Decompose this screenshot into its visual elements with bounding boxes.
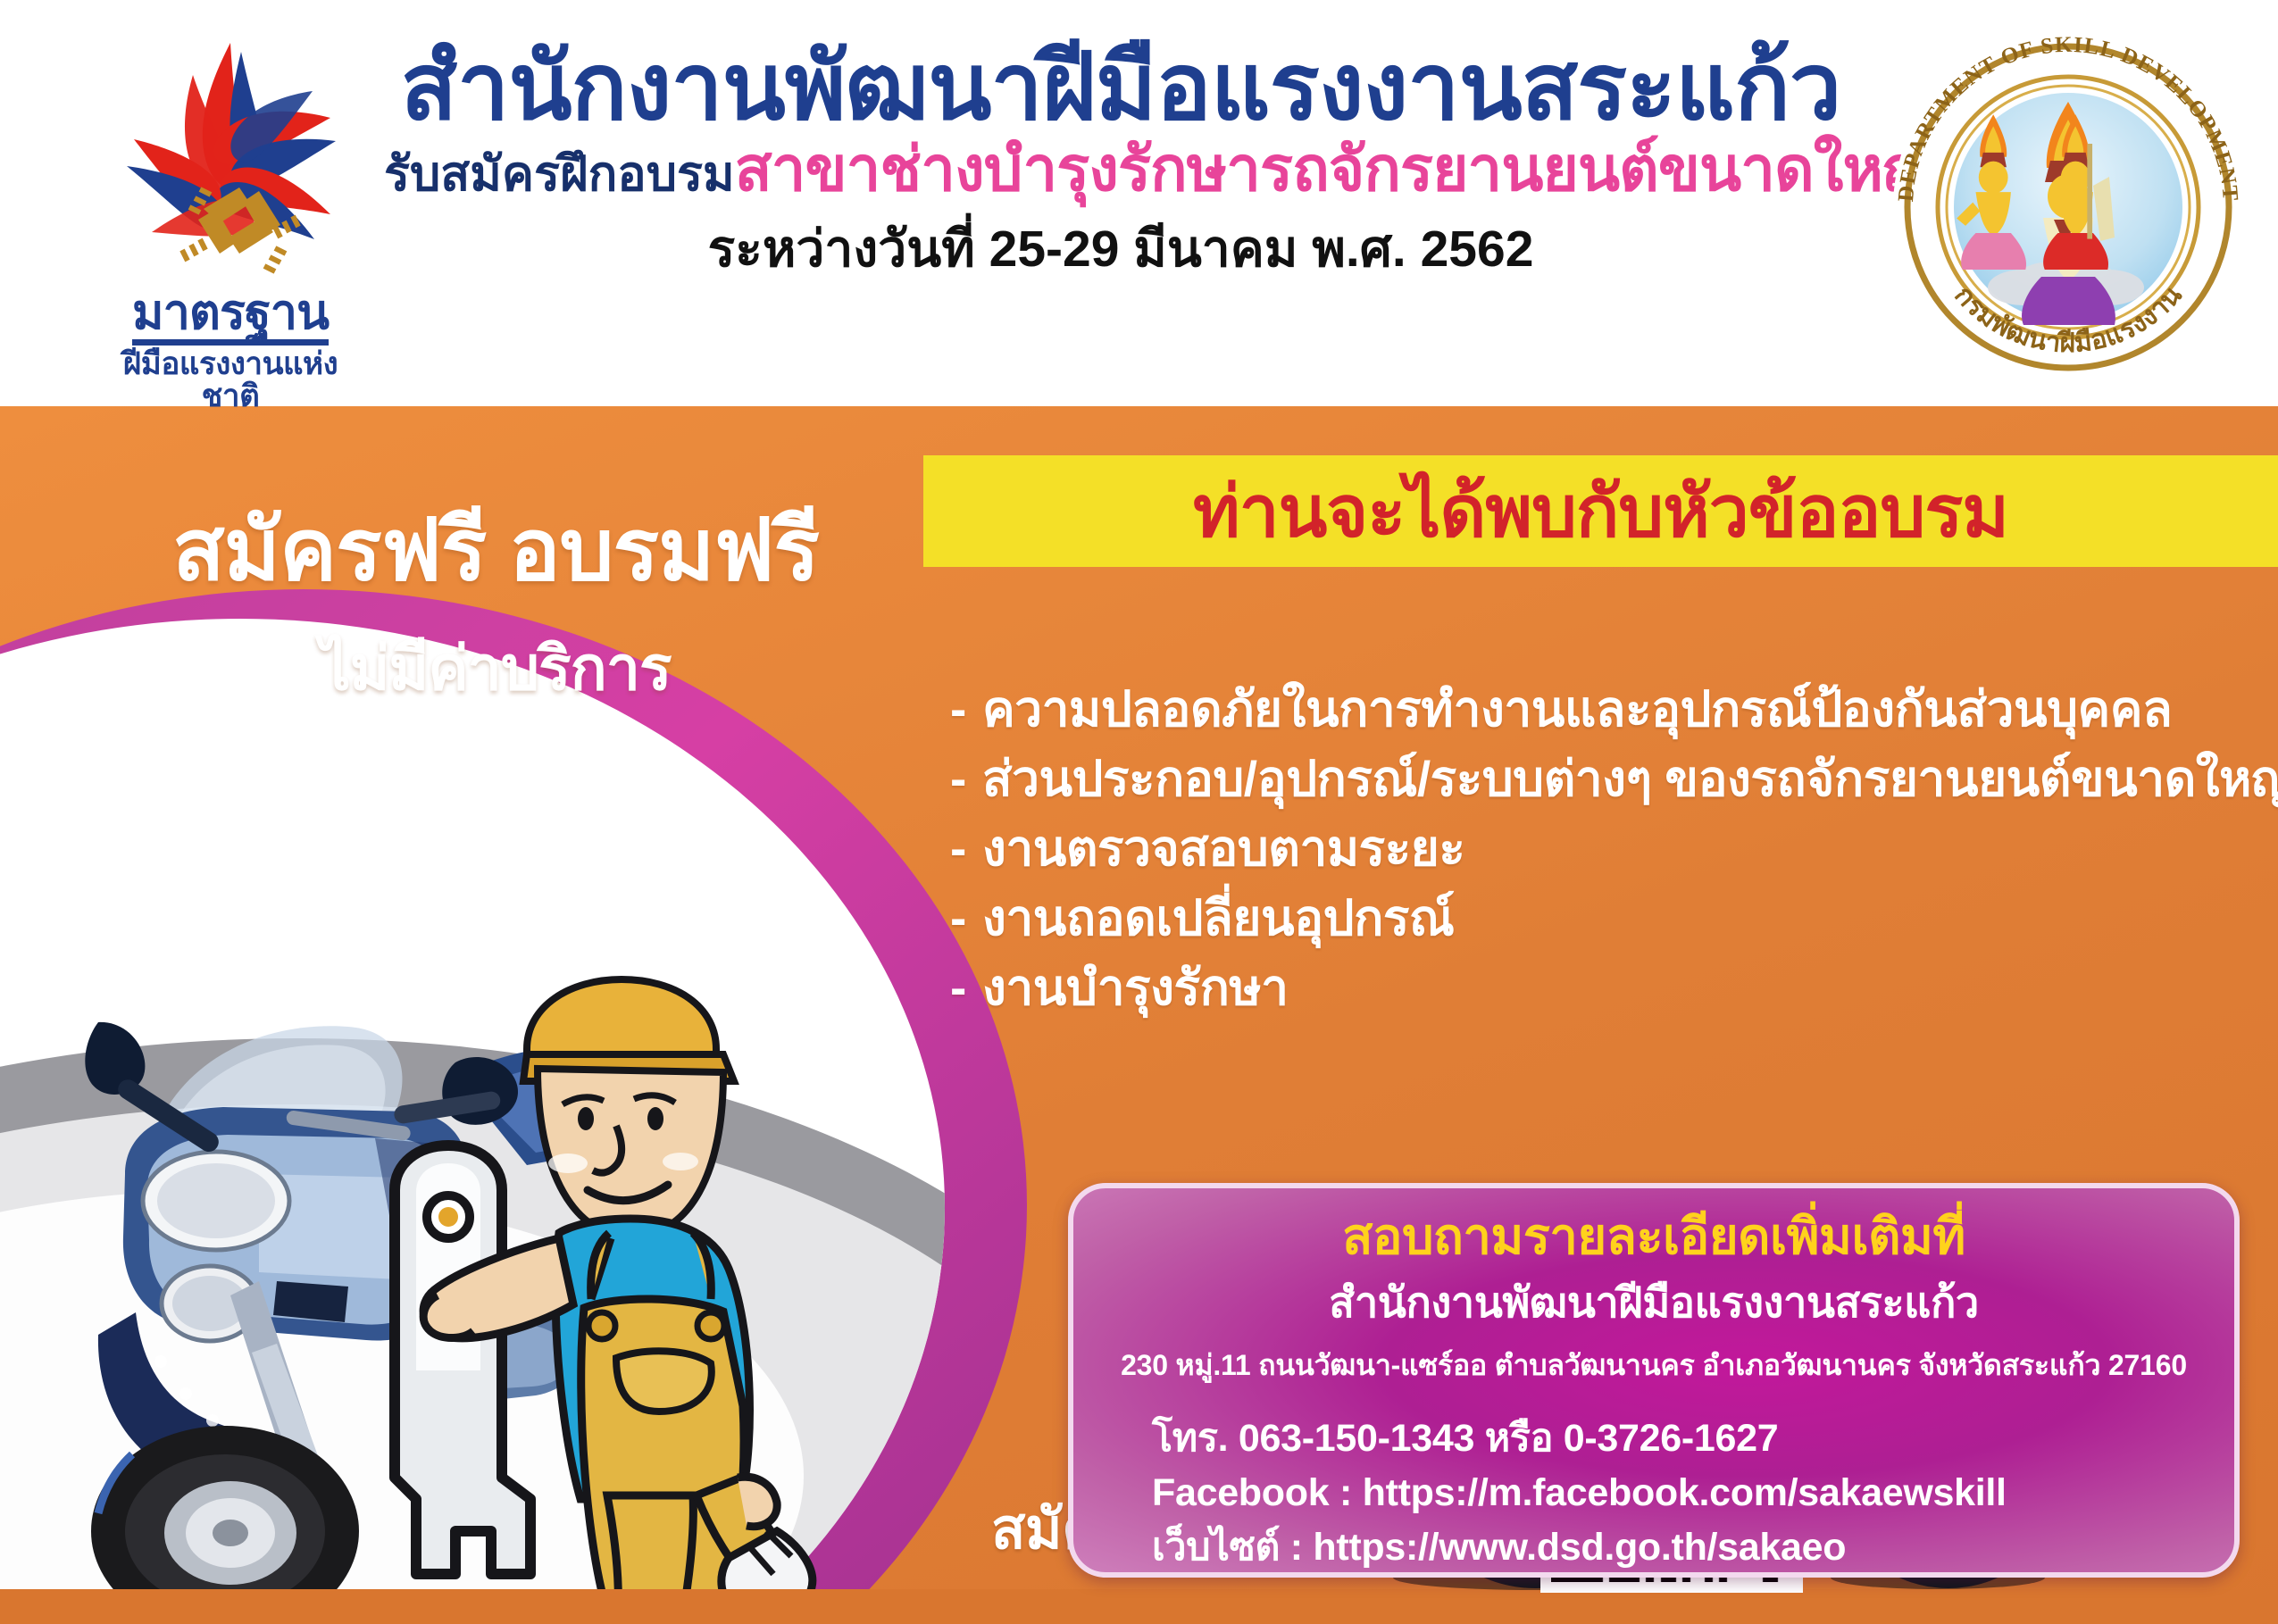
list-item: -งานบำรุงรักษา bbox=[950, 953, 2227, 1022]
contact-office: สำนักงานพัฒนาฝีมือแรงงานสระแก้ว bbox=[1113, 1269, 2195, 1336]
contact-website[interactable]: เว็บไซต์ : https://www.dsd.go.th/sakaeo bbox=[1152, 1520, 2195, 1575]
topic-text: ส่วนประกอบ/อุปกรณ์/ระบบต่างๆ ของรถจักรยา… bbox=[982, 751, 2278, 806]
contact-phone: โทร. 063-150-1343 หรือ 0-3726-1627 bbox=[1152, 1412, 2195, 1466]
bullet-mark: - bbox=[950, 883, 982, 953]
topics-banner-title: ท่านจะได้พบกับหัวข้ออบรม bbox=[923, 454, 2278, 568]
page-title: สำนักงานพัฒนาฝีมือแรงงานสระแก้ว bbox=[384, 36, 1857, 139]
subtitle-line: รับสมัครฝึกอบรมสาขาช่างบำรุงรักษารถจักรย… bbox=[384, 134, 1857, 204]
bullet-mark: - bbox=[950, 953, 982, 1022]
contact-address: 230 หมู่.11 ถนนวัฒนา-แซร์ออ ตำบลวัฒนานคร… bbox=[1113, 1343, 2195, 1388]
topics-list: -ความปลอดภัยในการทำงานและอุปกรณ์ป้องกันส… bbox=[950, 674, 2227, 1022]
free-line-1: สมัครฟรี อบรมฟรี bbox=[71, 482, 920, 618]
poster-body: สมัครฟรี อบรมฟรี ไม่มีค่าบริการ bbox=[0, 406, 2278, 1624]
contact-title: สอบถามรายละเอียดเพิ่มเติมที่ bbox=[1113, 1208, 2195, 1265]
flame-swirl-icon bbox=[96, 25, 364, 293]
bullet-mark: - bbox=[950, 674, 982, 744]
topic-text: งานตรวจสอบตามระยะ bbox=[982, 820, 1464, 876]
topic-text: ความปลอดภัยในการทำงานและอุปกรณ์ป้องกันส่… bbox=[982, 681, 2172, 737]
contact-facebook[interactable]: Facebook : https://m.facebook.com/sakaew… bbox=[1152, 1466, 2195, 1520]
list-item: -งานถอดเปลี่ยนอุปกรณ์ bbox=[950, 883, 2227, 953]
national-logo-line-1: มาตรฐาน bbox=[132, 288, 329, 346]
contact-card: สอบถามรายละเอียดเพิ่มเติมที่ สำนักงานพัฒ… bbox=[1068, 1183, 2240, 1578]
bullet-mark: - bbox=[950, 744, 982, 813]
subtitle-course: สาขาช่างบำรุงรักษารถจักรยานยนต์ขนาดใหญ่ bbox=[735, 135, 1934, 204]
bottom-strip bbox=[0, 1589, 2278, 1624]
department-of-skill-development-seal: DEPARTMENT OF SKILL DEVELOPMENT กรมพัฒนา… bbox=[1881, 20, 2256, 395]
topic-text: งานบำรุงรักษา bbox=[982, 960, 1289, 1015]
list-item: -ความปลอดภัยในการทำงานและอุปกรณ์ป้องกันส… bbox=[950, 674, 2227, 744]
date-line: ระหว่างวันที่ 25-29 มีนาคม พ.ศ. 2562 bbox=[384, 209, 1857, 289]
mechanic-illustration bbox=[0, 906, 973, 1624]
national-logo-text: มาตรฐาน ฝีมือแรงงานแห่งชาติ bbox=[96, 288, 364, 412]
list-item: -ส่วนประกอบ/อุปกรณ์/ระบบต่างๆ ของรถจักรย… bbox=[950, 744, 2227, 813]
bullet-mark: - bbox=[950, 813, 982, 883]
topic-text: งานถอดเปลี่ยนอุปกรณ์ bbox=[982, 890, 1454, 945]
free-line-2: ไม่มีค่าบริการ bbox=[71, 620, 920, 716]
list-item: -งานตรวจสอบตามระยะ bbox=[950, 813, 2227, 883]
header-text-block: สำนักงานพัฒนาฝีมือแรงงานสระแก้ว รับสมัคร… bbox=[384, 36, 1857, 289]
subtitle-lead: รับสมัครฝึกอบรม bbox=[384, 147, 735, 201]
topics-banner: ท่านจะได้พบกับหัวข้ออบรม bbox=[923, 455, 2278, 567]
free-training-block: สมัครฟรี อบรมฟรี ไม่มีค่าบริการ bbox=[71, 482, 920, 716]
national-logo-line-2: ฝีมือแรงงานแห่งชาติ bbox=[96, 348, 364, 412]
poster-header: มาตรฐาน ฝีมือแรงงานแห่งชาติ สำนักงานพัฒน… bbox=[0, 0, 2278, 406]
poster-root: สมัครฟรี อบรมฟรี ไม่มีค่าบริการ bbox=[0, 0, 2278, 1624]
national-skill-standard-logo: มาตรฐาน ฝีมือแรงงานแห่งชาติ bbox=[96, 25, 364, 400]
